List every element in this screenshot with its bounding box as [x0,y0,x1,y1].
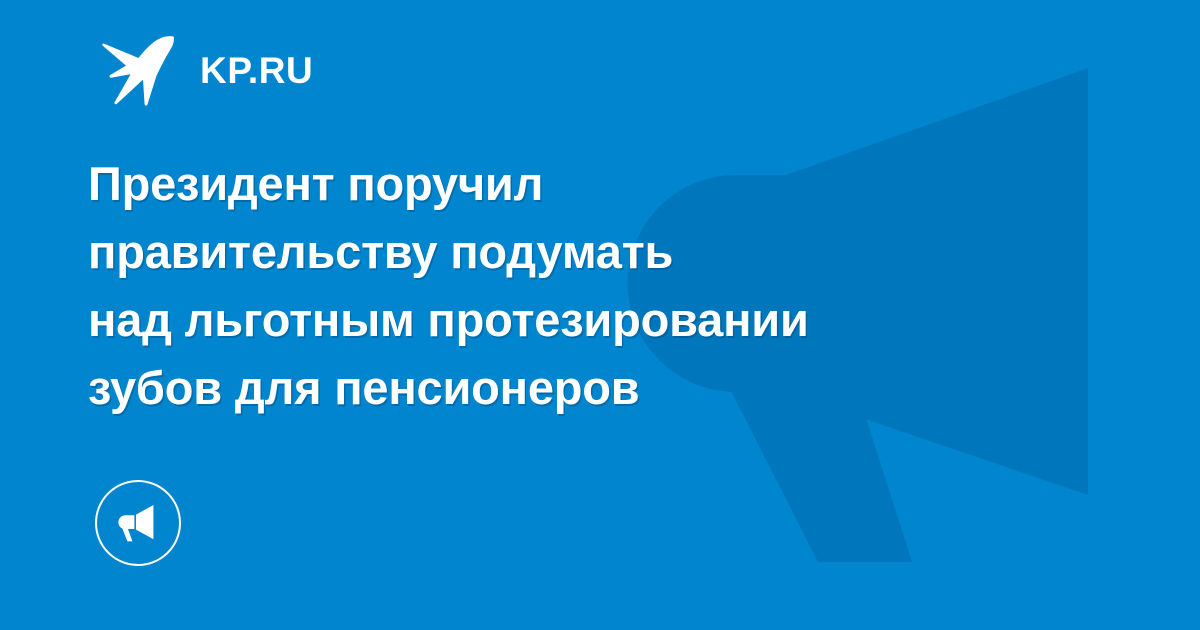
brand-name: KP.RU [200,52,313,89]
megaphone-icon [115,500,161,546]
megaphone-badge[interactable] [95,480,181,566]
headline-line-2: правительству подумать [88,218,1008,286]
brand-logo[interactable]: KP.RU [100,33,313,107]
social-share-card: KP.RU Президент поручил правительству по… [0,0,1200,630]
headline-line-3: над льготным протезировании [88,286,1008,354]
headline-line-1: Президент поручил [88,150,1008,218]
headline: Президент поручил правительству подумать… [88,150,1008,422]
swallow-bird-icon [100,34,174,106]
headline-line-4: зубов для пенсионеров [88,354,1008,422]
